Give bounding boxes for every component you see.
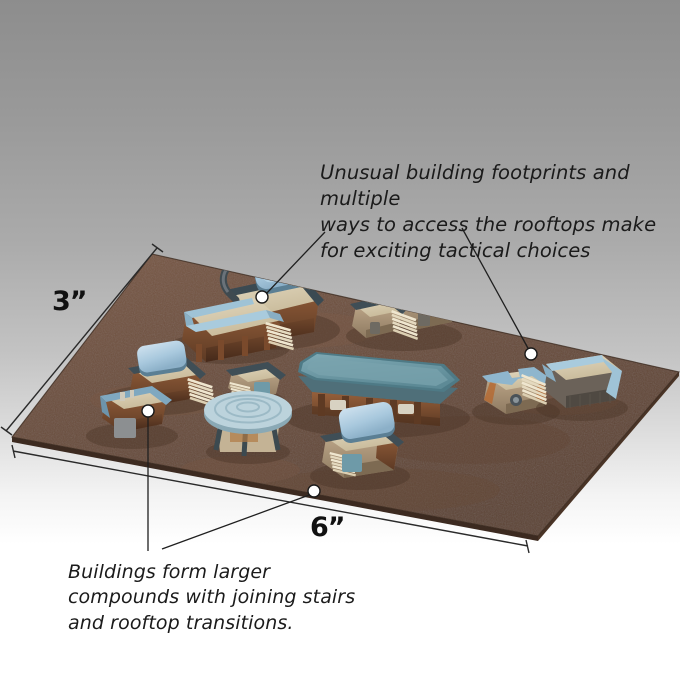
preview-image: Unusual building footprints and multiple… — [0, 0, 680, 680]
callout-text-compounds: Buildings form larger compounds with joi… — [68, 560, 355, 636]
callout-text-rooftops: Unusual building footprints and multiple… — [320, 160, 680, 264]
callout-dot-upper-left — [256, 291, 268, 303]
callout-dot-lower-left — [142, 405, 154, 417]
dimension-label-6-inch: 6” — [310, 512, 345, 543]
callout-dot-bottom-center — [308, 485, 320, 497]
leader-compounds-center — [162, 494, 312, 549]
callout-dot-right — [525, 348, 537, 360]
dimension-label-3-inch: 3” — [52, 286, 87, 317]
building-dome — [204, 391, 292, 464]
building-northeast-pair — [346, 283, 462, 351]
